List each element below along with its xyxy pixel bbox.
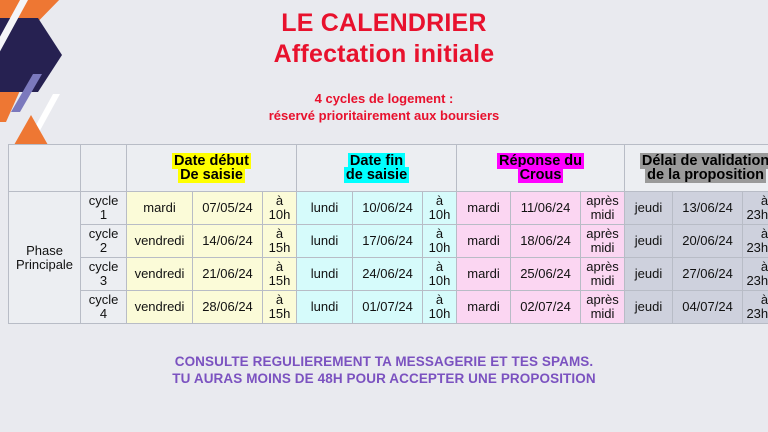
delai-date-cell: 20/06/24 <box>673 225 743 258</box>
crous-moment-cell: après midi <box>581 192 625 225</box>
debut-heure-cell: à 15h <box>263 258 297 291</box>
page-subtitle: 4 cycles de logement : réservé prioritai… <box>0 90 768 124</box>
cycle-number: 4 <box>100 306 107 321</box>
debut-heure-cell: à 15h <box>263 225 297 258</box>
table-row: Phase Principale cycle 1 mardi 07/05/24 … <box>9 192 768 225</box>
crous-date-cell: 11/06/24 <box>511 192 581 225</box>
cycle-number: 2 <box>100 240 107 255</box>
fin-jour-cell: lundi <box>297 225 353 258</box>
fin-heure-prefix: à <box>436 292 443 307</box>
debut-jour-cell: vendredi <box>127 258 193 291</box>
debut-date-cell: 21/06/24 <box>193 258 263 291</box>
delai-heure-value: 23h59 <box>746 306 768 321</box>
crous-date-cell: 18/06/24 <box>511 225 581 258</box>
subtitle-line-2: réservé prioritairement aux boursiers <box>0 107 768 124</box>
title-line-1: LE CALENDRIER <box>0 8 768 39</box>
cycle-cell: cycle 3 <box>81 258 127 291</box>
delai-heure-cell: à 23h59 <box>743 192 768 225</box>
table-row: cycle 2 vendredi 14/06/24 à 15h lundi 17… <box>9 225 768 258</box>
delai-heure-cell: à 23h59 <box>743 225 768 258</box>
debut-jour-cell: vendredi <box>127 291 193 324</box>
debut-date-cell: 28/06/24 <box>193 291 263 324</box>
crous-moment-cell: après midi <box>581 258 625 291</box>
subtitle-line-1: 4 cycles de logement : <box>0 90 768 107</box>
crous-moment-line2: midi <box>591 207 615 222</box>
crous-moment-line1: après <box>586 193 619 208</box>
delai-heure-value: 23h59 <box>746 207 768 222</box>
delai-heure-prefix: à <box>761 292 768 307</box>
debut-heure-cell: à 15h <box>263 291 297 324</box>
crous-date-cell: 25/06/24 <box>511 258 581 291</box>
debut-heure-value: 15h <box>269 273 291 288</box>
delai-heure-cell: à 23h59 <box>743 258 768 291</box>
debut-heure-prefix: à <box>276 292 283 307</box>
debut-date-cell: 14/06/24 <box>193 225 263 258</box>
crous-jour-cell: mardi <box>457 225 511 258</box>
crous-jour-cell: mardi <box>457 192 511 225</box>
crous-jour-cell: mardi <box>457 258 511 291</box>
fin-jour-cell: lundi <box>297 291 353 324</box>
header-date-debut: Date début De saisie <box>127 145 297 192</box>
phase-principale-cell: Phase Principale <box>9 192 81 324</box>
header-date-fin-line2: de saisie <box>344 167 409 183</box>
header-cycle <box>81 145 127 192</box>
delai-heure-value: 23h59 <box>746 240 768 255</box>
header-reponse-crous-line2: Crous <box>518 167 564 183</box>
title-line-2: Affectation initiale <box>0 39 768 70</box>
debut-heure-cell: à 10h <box>263 192 297 225</box>
delai-heure-cell: à 23h59 <box>743 291 768 324</box>
fin-heure-cell: à 10h <box>423 258 457 291</box>
crous-moment-line1: après <box>586 292 619 307</box>
footer-line-1: CONSULTE REGULIEREMENT TA MESSAGERIE ET … <box>0 353 768 370</box>
header-delai-validation: Délai de validation de la proposition <box>625 145 768 192</box>
fin-heure-cell: à 10h <box>423 192 457 225</box>
cycle-number: 1 <box>100 207 107 222</box>
debut-heure-prefix: à <box>276 226 283 241</box>
fin-date-cell: 01/07/24 <box>353 291 423 324</box>
header-phase <box>9 145 81 192</box>
cycle-word: cycle <box>89 292 119 307</box>
debut-heure-prefix: à <box>276 193 283 208</box>
phase-label-line2: Principale <box>16 257 73 272</box>
debut-heure-value: 10h <box>269 207 291 222</box>
crous-moment-line1: après <box>586 226 619 241</box>
table-row: cycle 4 vendredi 28/06/24 à 15h lundi 01… <box>9 291 768 324</box>
crous-moment-cell: après midi <box>581 225 625 258</box>
fin-heure-cell: à 10h <box>423 225 457 258</box>
fin-jour-cell: lundi <box>297 192 353 225</box>
cycle-cell: cycle 4 <box>81 291 127 324</box>
fin-date-cell: 17/06/24 <box>353 225 423 258</box>
fin-heure-cell: à 10h <box>423 291 457 324</box>
cycle-word: cycle <box>89 259 119 274</box>
delai-heure-value: 23h59 <box>746 273 768 288</box>
crous-moment-line2: midi <box>591 240 615 255</box>
footer-note: CONSULTE REGULIEREMENT TA MESSAGERIE ET … <box>0 353 768 387</box>
delai-jour-cell: jeudi <box>625 192 673 225</box>
fin-heure-prefix: à <box>436 259 443 274</box>
delai-date-cell: 27/06/24 <box>673 258 743 291</box>
crous-date-cell: 02/07/24 <box>511 291 581 324</box>
fin-heure-value: 10h <box>429 207 451 222</box>
delai-jour-cell: jeudi <box>625 258 673 291</box>
delai-heure-prefix: à <box>761 226 768 241</box>
phase-label-line1: Phase <box>26 243 63 258</box>
delai-date-cell: 13/06/24 <box>673 192 743 225</box>
debut-jour-cell: mardi <box>127 192 193 225</box>
fin-date-cell: 10/06/24 <box>353 192 423 225</box>
crous-moment-cell: après midi <box>581 291 625 324</box>
table-header-row: Date début De saisie Date fin de saisie … <box>9 145 768 192</box>
debut-heure-value: 15h <box>269 306 291 321</box>
debut-date-cell: 07/05/24 <box>193 192 263 225</box>
header-date-fin: Date fin de saisie <box>297 145 457 192</box>
delai-heure-prefix: à <box>761 259 768 274</box>
fin-heure-prefix: à <box>436 226 443 241</box>
page-title: LE CALENDRIER Affectation initiale <box>0 8 768 70</box>
fin-heure-prefix: à <box>436 193 443 208</box>
crous-moment-line2: midi <box>591 273 615 288</box>
crous-jour-cell: mardi <box>457 291 511 324</box>
calendar-table: Date début De saisie Date fin de saisie … <box>8 144 768 324</box>
cycle-number: 3 <box>100 273 107 288</box>
fin-heure-value: 10h <box>429 240 451 255</box>
debut-jour-cell: vendredi <box>127 225 193 258</box>
cycle-word: cycle <box>89 193 119 208</box>
delai-jour-cell: jeudi <box>625 291 673 324</box>
cycle-cell: cycle 1 <box>81 192 127 225</box>
fin-date-cell: 24/06/24 <box>353 258 423 291</box>
crous-moment-line2: midi <box>591 306 615 321</box>
table-row: cycle 3 vendredi 21/06/24 à 15h lundi 24… <box>9 258 768 291</box>
crous-moment-line1: après <box>586 259 619 274</box>
footer-line-2: TU AURAS MOINS DE 48H POUR ACCEPTER UNE … <box>0 370 768 387</box>
header-delai-validation-line2: de la proposition <box>645 167 766 183</box>
debut-heure-prefix: à <box>276 259 283 274</box>
delai-date-cell: 04/07/24 <box>673 291 743 324</box>
cycle-word: cycle <box>89 226 119 241</box>
fin-heure-value: 10h <box>429 306 451 321</box>
fin-heure-value: 10h <box>429 273 451 288</box>
cycle-cell: cycle 2 <box>81 225 127 258</box>
header-reponse-crous: Réponse du Crous <box>457 145 625 192</box>
header-date-debut-line2: De saisie <box>178 167 245 183</box>
delai-heure-prefix: à <box>761 193 768 208</box>
delai-jour-cell: jeudi <box>625 225 673 258</box>
debut-heure-value: 15h <box>269 240 291 255</box>
fin-jour-cell: lundi <box>297 258 353 291</box>
